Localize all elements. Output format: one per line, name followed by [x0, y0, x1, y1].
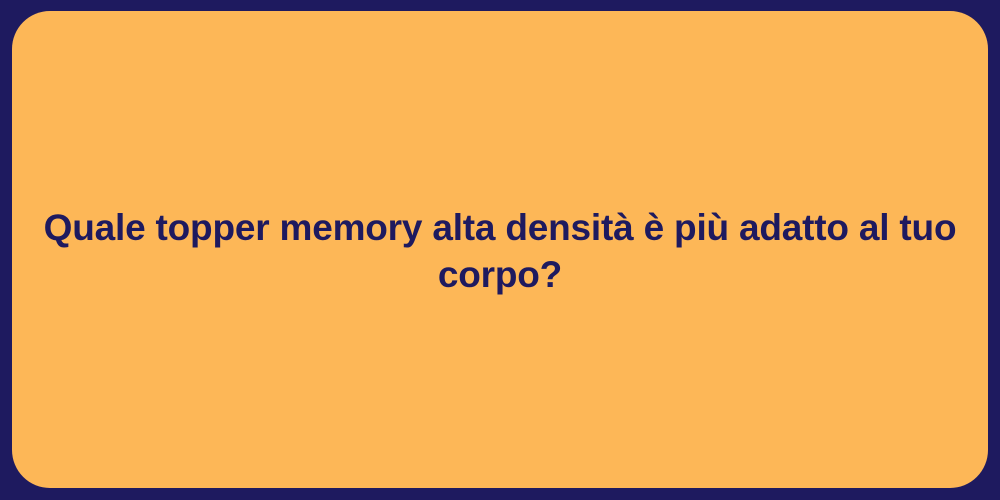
banner-inner-panel: Quale topper memory alta densità è più a… — [12, 11, 988, 488]
banner-card: Quale topper memory alta densità è più a… — [0, 0, 1000, 500]
page-title: Quale topper memory alta densità è più a… — [12, 205, 988, 298]
